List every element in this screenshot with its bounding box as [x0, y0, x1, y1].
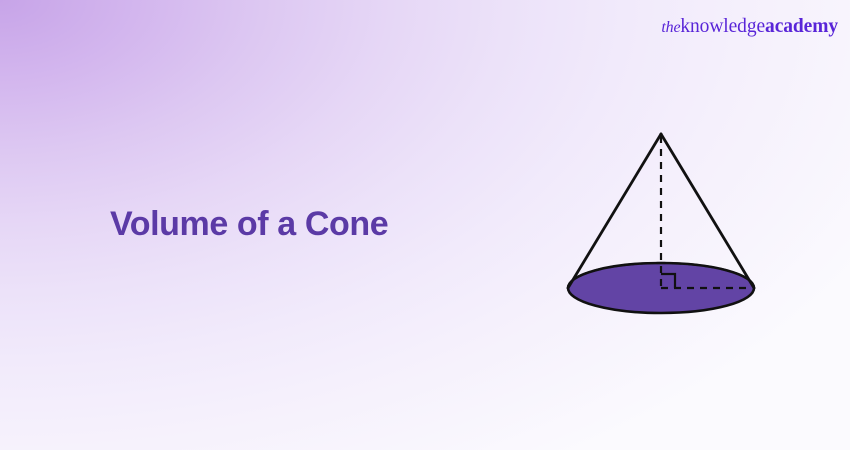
brand-logo-knowledge: knowledge [680, 16, 765, 37]
cone-apex [660, 133, 662, 135]
cone-diagram [548, 118, 776, 318]
slide-canvas: theknowledgeacademy Volume of a Cone [0, 0, 850, 450]
page-title: Volume of a Cone [110, 203, 388, 245]
cone-diagram-svg [548, 118, 776, 318]
brand-logo-academy: academy [765, 16, 838, 37]
brand-logo: theknowledgeacademy [661, 17, 838, 37]
brand-logo-the: the [661, 19, 680, 36]
